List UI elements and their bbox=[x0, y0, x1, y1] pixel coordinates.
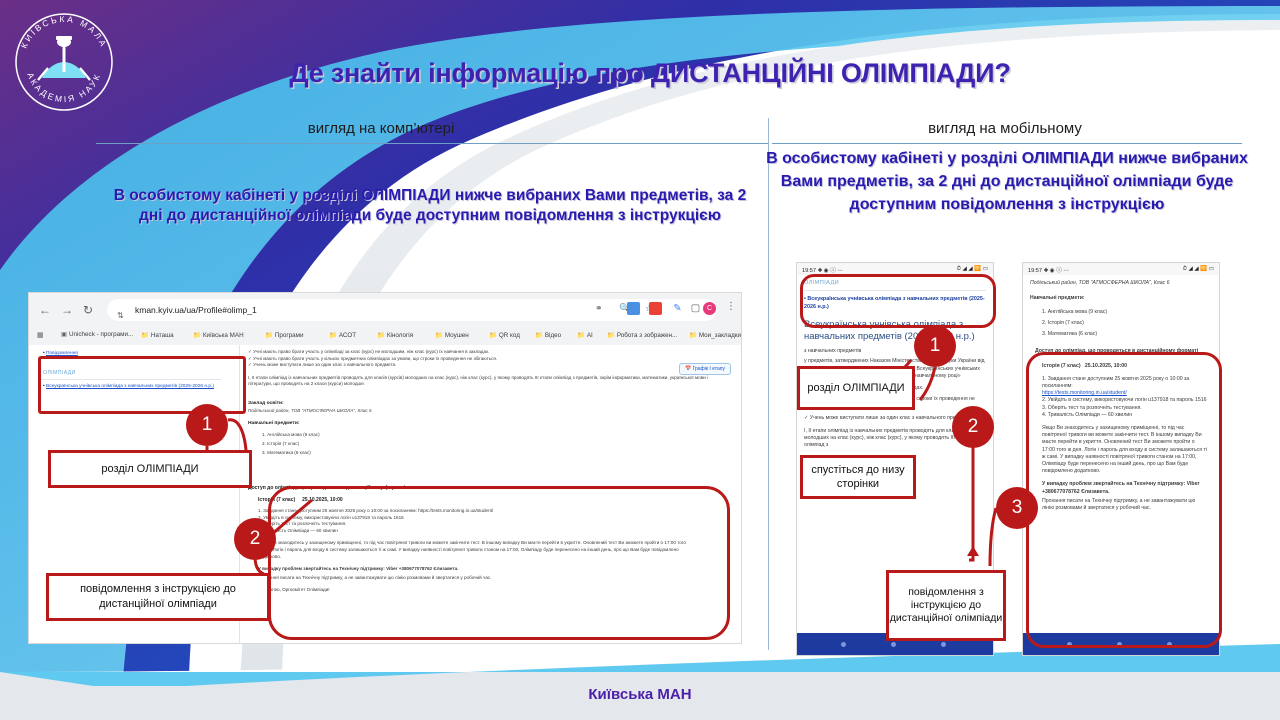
mobile-screenshot-2: 19:57 ✚ ◉ ⓘ ⋯ ⏱ ◢ ◢ 🛜 ▭ Подільський райо… bbox=[1022, 262, 1220, 656]
bookmark-item: 📁Кінологія bbox=[377, 331, 413, 339]
intro-text-desktop: В особистому кабінеті у розділі ОЛІМПІАД… bbox=[110, 186, 750, 226]
reload-icon[interactable]: ↻ bbox=[83, 303, 93, 317]
phone1-paragraph-1: з навчальних предметів bbox=[804, 348, 986, 355]
folder-icon: 📁 bbox=[329, 332, 337, 339]
phone2-access-step: 3. Оберіть тест та розпочніть тестування… bbox=[1042, 405, 1207, 412]
status-icons-right: ⏱ ◢ ◢ 🛜 ▭ bbox=[1183, 266, 1214, 273]
access-step: 4. Тривалість Олімпіади — 60 хвилин bbox=[258, 528, 716, 535]
callout-scroll-mobile: спустіться до низу сторінки bbox=[800, 455, 916, 499]
school-value: Подільський район, ТОВ "АТМОСФЕРНА ШКОЛА… bbox=[248, 408, 708, 413]
closing-note: З повагою, Оргкомітет Олімпіади! bbox=[258, 587, 716, 594]
step-badge-3-mobile: 3 bbox=[996, 487, 1038, 529]
rule-line: ✓ Учні мають право брати участь у кілько… bbox=[248, 356, 708, 363]
phone2-access-step: 1. Завдання стане доступним 25 жовтня 20… bbox=[1042, 376, 1207, 390]
divider-right bbox=[772, 143, 1242, 144]
access-note: Якщо Ви знаходитесь у захищеному приміще… bbox=[258, 540, 688, 560]
column-heading-mobile: вигляд на мобільному bbox=[770, 120, 1240, 137]
extension-icon-translate[interactable] bbox=[627, 302, 640, 315]
password-key-icon[interactable]: ⚭ bbox=[595, 303, 603, 314]
folder-icon: 📁 bbox=[193, 332, 201, 339]
nav-home-icon[interactable] bbox=[891, 642, 896, 647]
nav-back-icon[interactable] bbox=[841, 642, 846, 647]
phone1-olympiad-link[interactable]: • Всеукраїнська учнівська олімпіада з на… bbox=[804, 296, 986, 311]
bookmark-item: 📁Робота з зображен... bbox=[607, 331, 677, 339]
sidebar-item-notifications[interactable]: • Повідомлення bbox=[43, 351, 78, 356]
bookmark-item: 📁Наташа bbox=[141, 331, 174, 339]
back-arrow-icon[interactable]: ← bbox=[39, 303, 51, 317]
folder-icon: 📁 bbox=[689, 332, 697, 339]
bookmark-item: 📁АСОТ bbox=[329, 331, 356, 339]
sidebar-section-olympiads: ОЛІМПІАДИ bbox=[43, 370, 76, 376]
address-bar[interactable]: ⇅ kman.kyiv.ua/ua/Profile#olimp_1 bbox=[107, 299, 615, 321]
phone2-access-step: 4. Тривалість Олімпіади — 60 хвилин bbox=[1042, 412, 1207, 419]
sidebar-item-olympiad-link[interactable]: • Всеукраїнська учнівська олімпіада з на… bbox=[43, 384, 225, 391]
rules-paragraph: I, II етапи олімпіад із навчальних предм… bbox=[248, 375, 708, 388]
bookmark-item: 📁Програми bbox=[265, 331, 304, 339]
bookmark-item: 📁Відео bbox=[535, 331, 561, 339]
rule-line: ✓ Учень може виступати лише за один клас… bbox=[248, 362, 708, 369]
step-badge-2-desktop: 2 bbox=[234, 518, 276, 560]
address-bar-url: kman.kyiv.ua/ua/Profile#olimp_1 bbox=[135, 305, 257, 315]
phone2-access-subject-line: Історія (7 клас) 25.10.2025, 10:00 bbox=[1042, 363, 1207, 370]
nav-recents-icon[interactable] bbox=[1167, 642, 1172, 647]
subject-item: 1. Англійська мова (9 клас) bbox=[262, 430, 708, 439]
kyiv-man-logo: КИЇВСЬКА МАЛА АКАДЕМІЯ НАУК bbox=[8, 6, 120, 118]
folder-icon: 📁 bbox=[377, 332, 385, 339]
phone2-page: Подільський район, ТОВ "АТМОСФЕРНА ШКОЛА… bbox=[1023, 275, 1219, 655]
site-settings-icon[interactable]: ⇅ bbox=[117, 305, 124, 321]
kebab-menu-icon[interactable]: ⋮ bbox=[726, 301, 736, 312]
forward-arrow-icon[interactable]: → bbox=[61, 303, 73, 317]
callout-instruction-mobile: повідомлення з інструкцією до дистанційн… bbox=[886, 570, 1006, 641]
phone1-heading: Всеукраїнська учнівська олімпіада з навч… bbox=[804, 319, 986, 343]
extensions-puzzle-icon[interactable]: ▢ bbox=[689, 302, 702, 315]
browser-toolbar: ← → ↻ ⇅ kman.kyiv.ua/ua/Profile#olimp_1 … bbox=[29, 293, 741, 329]
phone2-subjects-label: Навчальні предмети: bbox=[1030, 295, 1212, 302]
phone-status-bar: 19:57 ✚ ◉ ⓘ ⋯ ⏱ ◢ ◢ 🛜 ▭ bbox=[797, 263, 993, 275]
access-card-title: Доступ до олімпіад, що проводяться в дис… bbox=[248, 485, 716, 491]
page-title: Де знайти інформацію про ДИСТАНЦІЙНІ ОЛІ… bbox=[120, 58, 1180, 89]
sidebar-rule bbox=[41, 379, 221, 380]
phone1-section-olympiads: ОЛІМПІАДИ bbox=[804, 280, 986, 286]
status-icons-right: ⏱ ◢ ◢ 🛜 ▭ bbox=[957, 266, 988, 273]
extension-icon-photos[interactable] bbox=[649, 302, 662, 315]
phone2-support-title: У випадку проблем звертайтесь на Технічн… bbox=[1042, 481, 1207, 495]
access-step: 3. Оберіть тест та розпочніть тестування… bbox=[258, 521, 716, 528]
folder-icon: 📁 bbox=[607, 332, 615, 339]
phone2-navigation-bar bbox=[1023, 633, 1219, 655]
bookmark-item: 📁AI bbox=[577, 331, 593, 339]
folder-icon: 📁 bbox=[535, 332, 543, 339]
bookmarks-bar: ▦ ▣Unicheck - програми... 📁Наташа 📁Київс… bbox=[29, 329, 741, 346]
divider-left bbox=[96, 143, 768, 144]
bookmark-favicon: ▣ bbox=[61, 331, 67, 338]
support-title: У випадку проблем звертайтесь на Технічн… bbox=[258, 566, 688, 573]
step-badge-2-mobile: 2 bbox=[952, 406, 994, 448]
nav-recents-icon[interactable] bbox=[941, 642, 946, 647]
profile-main: ✓ Учні мають право брати участь у олімпі… bbox=[240, 345, 741, 643]
remote-olympiad-access-card: Доступ до олімпіад, що проводяться в дис… bbox=[248, 485, 716, 594]
nav-home-icon[interactable] bbox=[1117, 642, 1122, 647]
callout-instruction-desktop: повідомлення з інструкцією до дистанційн… bbox=[46, 573, 270, 621]
bookmark-item: 📁QR код bbox=[489, 331, 520, 339]
step-badge-1-mobile: 1 bbox=[914, 325, 956, 367]
callout-olympiads-mobile: розділ ОЛІМПІАДИ bbox=[797, 366, 915, 410]
folder-icon: 📁 bbox=[435, 332, 443, 339]
phone2-support-note: Прохання писати на Технічну підтримку, а… bbox=[1042, 498, 1207, 512]
phone2-subject-item: 1. Англійська мова (9 клас) bbox=[1042, 307, 1212, 318]
access-step: 2. Увійдіть в систему, використовуючи ло… bbox=[258, 515, 716, 522]
folder-icon: 📁 bbox=[489, 332, 497, 339]
column-heading-desktop: вигляд на комп’ютері bbox=[96, 120, 666, 137]
phone2-access-title: Доступ до олімпіад, що проводяться в дис… bbox=[1035, 348, 1207, 355]
phone2-subject-item: 2. Історія (7 клас) bbox=[1042, 318, 1212, 329]
subject-item: 3. Математика (6 клас) bbox=[262, 448, 708, 457]
rule-line: ✓ Учні мають право брати участь у олімпі… bbox=[248, 349, 708, 356]
school-label: Заклад освіти: bbox=[248, 401, 708, 406]
bookmark-item: 📁Київська МАН bbox=[193, 331, 244, 339]
phone1-rule bbox=[804, 290, 986, 291]
slide-footer: Київська МАН bbox=[0, 686, 1280, 703]
bookmark-item: ▣Unicheck - програми... bbox=[61, 331, 133, 338]
extension-icon-pen[interactable]: ✎ bbox=[671, 302, 684, 315]
nav-back-icon[interactable] bbox=[1067, 642, 1072, 647]
phone-status-bar: 19:57 ✚ ◉ ⓘ ⋯ ⏱ ◢ ◢ 🛜 ▭ bbox=[1023, 263, 1219, 275]
subjects-label: Навчальні предмети: bbox=[248, 421, 708, 426]
subject-item: 2. Історія (7 клас) bbox=[262, 439, 708, 448]
callout-olympiads-desktop: розділ ОЛІМПІАДИ bbox=[48, 450, 252, 488]
bookmark-item: 📁Моушен bbox=[435, 331, 469, 339]
olympiad-rules-block: ✓ Учні мають право брати участь у олімпі… bbox=[248, 349, 708, 388]
phone2-access-step: 2. Увійдіть в систему, використовуючи ло… bbox=[1042, 397, 1207, 404]
folder-icon: 📁 bbox=[577, 332, 585, 339]
status-bar-left: 19:57 ✚ ◉ ⓘ ⋯ bbox=[802, 266, 843, 274]
folder-icon: 📁 bbox=[265, 332, 273, 339]
phone2-school-value: Подільський район, ТОВ "АТМОСФЕРНА ШКОЛА… bbox=[1030, 280, 1212, 287]
avatar[interactable]: C bbox=[703, 302, 716, 315]
folder-icon: 📁 bbox=[141, 332, 149, 339]
access-subject-line: Історія (7 клас) 25.10.2025, 10:00 bbox=[258, 497, 716, 503]
phone2-access-note: Якщо Ви знаходитесь у захищеному приміще… bbox=[1042, 425, 1207, 475]
apps-grid-icon[interactable]: ▦ bbox=[37, 331, 44, 339]
phone2-subject-item: 3. Математика (6 клас) bbox=[1042, 329, 1212, 340]
status-icons-left: ✚ ◉ ⓘ ⋯ bbox=[818, 268, 843, 274]
support-note: Прохання писати на Технічну підтримку, а… bbox=[258, 575, 688, 582]
bookmark-item: 📁Мои_закладки bbox=[689, 331, 741, 339]
status-icons-left: ✚ ◉ ⓘ ⋯ bbox=[1044, 268, 1069, 274]
intro-text-mobile: В особистому кабінеті у розділі ОЛІМПІАД… bbox=[766, 147, 1248, 216]
school-card: Заклад освіти: Подільський район, ТОВ "А… bbox=[248, 401, 708, 457]
access-step: 1. Завдання стане доступним 25 жовтня 20… bbox=[258, 508, 716, 515]
status-bar-left: 19:57 ✚ ◉ ⓘ ⋯ bbox=[1028, 266, 1069, 274]
phone2-access-card: Доступ до олімпіад, що проводяться в дис… bbox=[1030, 344, 1212, 516]
schedule-button[interactable]: 📅 Графік I етапу bbox=[679, 363, 731, 375]
step-badge-1-desktop: 1 bbox=[186, 404, 228, 446]
